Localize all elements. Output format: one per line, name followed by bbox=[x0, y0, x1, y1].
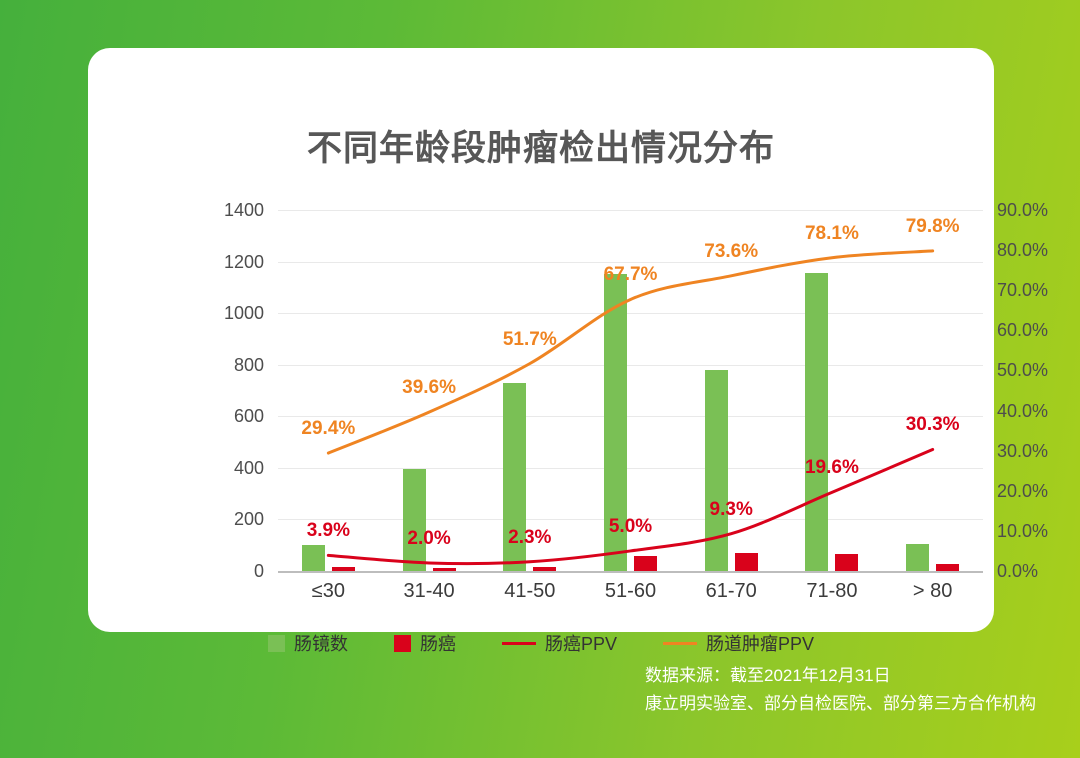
legend-swatch-line-icon bbox=[502, 642, 536, 645]
x-axis-tick: 31-40 bbox=[403, 580, 454, 603]
data-label: 30.3% bbox=[906, 415, 960, 434]
legend-label: 肠镜数 bbox=[294, 630, 348, 656]
data-label: 67.7% bbox=[604, 265, 658, 284]
y-axis-right-tick: 30.0% bbox=[997, 442, 1048, 460]
x-axis-tick: 61-70 bbox=[706, 580, 757, 603]
plot-area: 0200400600800100012001400 0.0%10.0%20.0%… bbox=[278, 210, 983, 571]
y-axis-left-tick: 1400 bbox=[224, 201, 264, 219]
data-label: 9.3% bbox=[710, 500, 753, 519]
x-axis-tick: > 80 bbox=[913, 580, 952, 603]
legend-swatch-square-icon bbox=[394, 635, 411, 652]
y-axis-right-tick: 40.0% bbox=[997, 402, 1048, 420]
legend-swatch-square-icon bbox=[268, 635, 285, 652]
legend-item[interactable]: 肠癌 bbox=[394, 630, 456, 656]
y-axis-right-tick: 70.0% bbox=[997, 281, 1048, 299]
legend-item[interactable]: 肠癌PPV bbox=[502, 630, 617, 656]
legend-swatch-line-icon bbox=[663, 642, 697, 645]
y-axis-left-tick: 1000 bbox=[224, 304, 264, 322]
y-axis-right-tick: 20.0% bbox=[997, 482, 1048, 500]
gridline bbox=[278, 571, 983, 573]
x-axis: ≤3031-4041-5051-6061-7071-80> 80 bbox=[278, 580, 983, 610]
data-label: 39.6% bbox=[402, 378, 456, 397]
chart-legend: 肠镜数肠癌肠癌PPV肠道肿瘤PPV bbox=[88, 630, 994, 656]
legend-label: 肠癌PPV bbox=[545, 630, 617, 656]
data-label: 51.7% bbox=[503, 330, 557, 349]
y-axis-left-tick: 0 bbox=[254, 562, 264, 580]
y-axis-right-tick: 50.0% bbox=[997, 361, 1048, 379]
data-label: 5.0% bbox=[609, 517, 652, 536]
y-axis-right-tick: 90.0% bbox=[997, 201, 1048, 219]
chart-card: 不同年龄段肿瘤检出情况分布 0200400600800100012001400 … bbox=[88, 48, 994, 632]
footer-line-2: 康立明实验室、部分自检医院、部分第三方合作机构 bbox=[645, 690, 1036, 718]
y-axis-right-tick: 60.0% bbox=[997, 321, 1048, 339]
legend-label: 肠癌 bbox=[420, 630, 456, 656]
y-axis-left-tick: 800 bbox=[234, 356, 264, 374]
y-axis-left-tick: 1200 bbox=[224, 253, 264, 271]
legend-label: 肠道肿瘤PPV bbox=[706, 630, 814, 656]
data-label: 29.4% bbox=[301, 419, 355, 438]
footer-line-1: 数据来源：截至2021年12月31日 bbox=[645, 662, 1036, 690]
data-label: 78.1% bbox=[805, 224, 859, 243]
y-axis-left-tick: 600 bbox=[234, 407, 264, 425]
footer-note: 数据来源：截至2021年12月31日 康立明实验室、部分自检医院、部分第三方合作… bbox=[645, 662, 1036, 718]
x-axis-tick: ≤30 bbox=[312, 580, 345, 603]
y-axis-right-tick: 0.0% bbox=[997, 562, 1038, 580]
data-label: 19.6% bbox=[805, 458, 859, 477]
data-label: 2.0% bbox=[407, 529, 450, 548]
y-axis-left-tick: 400 bbox=[234, 459, 264, 477]
x-axis-tick: 41-50 bbox=[504, 580, 555, 603]
data-label: 73.6% bbox=[704, 242, 758, 261]
y-axis-left-tick: 200 bbox=[234, 510, 264, 528]
y-axis-right-tick: 80.0% bbox=[997, 241, 1048, 259]
data-label: 79.8% bbox=[906, 217, 960, 236]
y-axis-right-tick: 10.0% bbox=[997, 522, 1048, 540]
x-axis-tick: 51-60 bbox=[605, 580, 656, 603]
page-title: 不同年龄段肿瘤检出情况分布 bbox=[88, 120, 994, 171]
legend-item[interactable]: 肠镜数 bbox=[268, 630, 348, 656]
legend-item[interactable]: 肠道肿瘤PPV bbox=[663, 630, 814, 656]
data-label: 3.9% bbox=[307, 521, 350, 540]
data-label: 2.3% bbox=[508, 528, 551, 547]
x-axis-tick: 71-80 bbox=[806, 580, 857, 603]
